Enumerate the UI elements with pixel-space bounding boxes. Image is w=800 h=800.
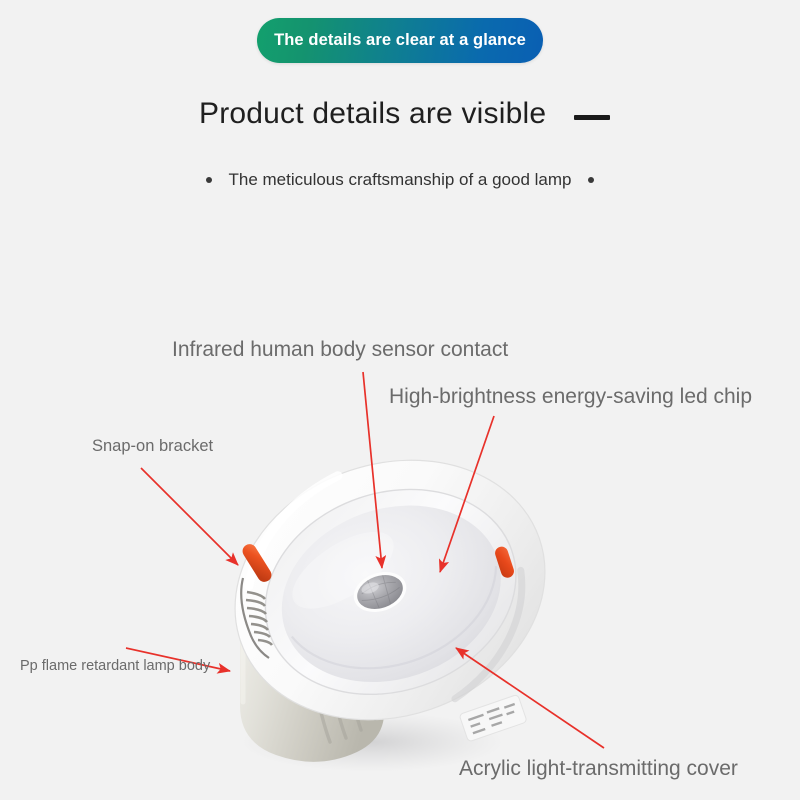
annotation-label-led-chip: High-brightness energy-saving led chip bbox=[389, 385, 752, 408]
annotation-label-snap-bracket: Snap-on bracket bbox=[92, 437, 213, 455]
annotation-label-lamp-body: Pp flame retardant lamp body bbox=[20, 659, 210, 675]
annotation-label-acrylic-cover: Acrylic light-transmitting cover bbox=[459, 757, 738, 780]
annotation-label-infrared-sensor: Infrared human body sensor contact bbox=[172, 338, 508, 361]
infographic-canvas: The details are clear at a glance Produc… bbox=[0, 0, 800, 800]
